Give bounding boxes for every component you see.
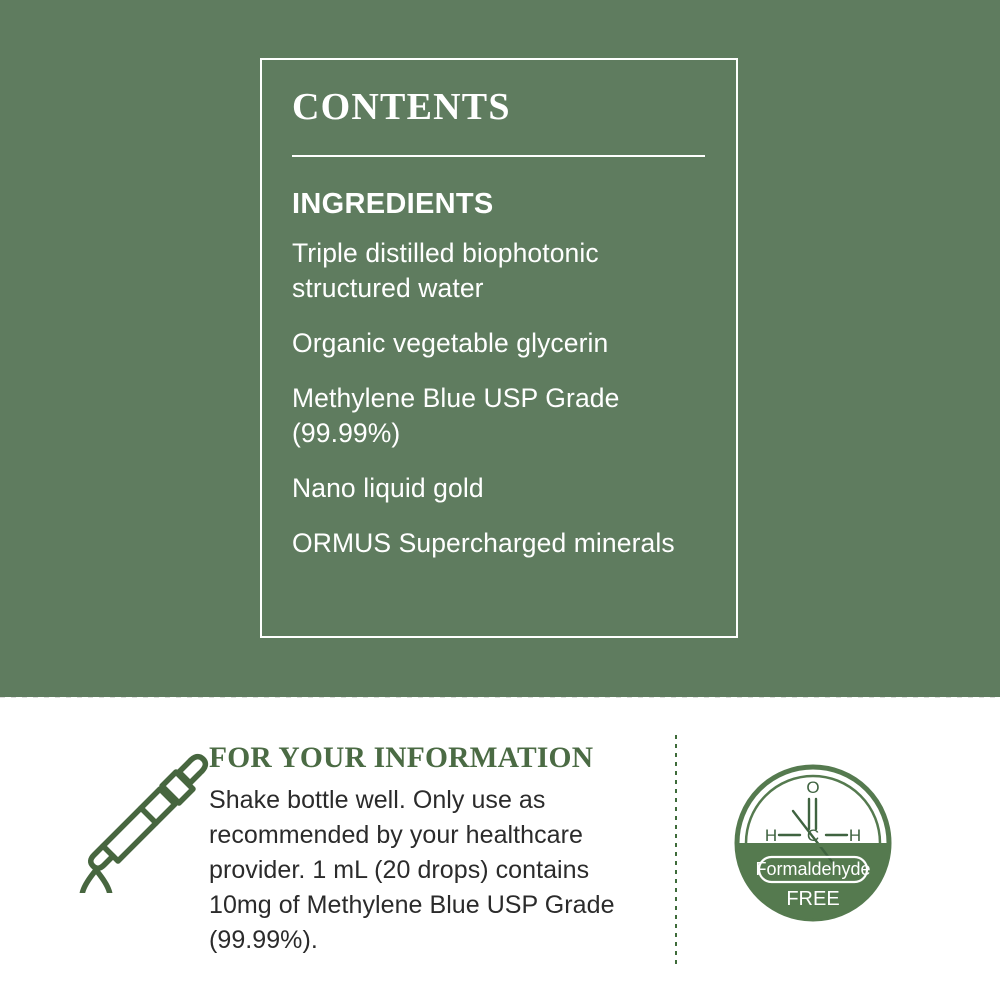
list-item: Nano liquid gold [292, 471, 702, 506]
dropper-icon [66, 748, 216, 893]
page-title: CONTENTS [292, 88, 511, 126]
molecule-atom-o: O [806, 778, 819, 797]
ingredients-list: Triple distilled biophotonic structured … [292, 236, 702, 581]
list-item: Organic vegetable glycerin [292, 326, 702, 361]
information-body-text: Shake bottle well. Only use as recommend… [209, 783, 649, 958]
title-divider [292, 155, 705, 157]
ingredients-heading: INGREDIENTS [292, 190, 494, 219]
list-item: ORMUS Supercharged minerals [292, 526, 702, 561]
molecule-atom-h-left: H [765, 826, 777, 845]
panel-dotted-divider [0, 697, 1000, 698]
molecule-atom-c: C [807, 826, 819, 845]
formaldehyde-free-badge: O C H H Formaldehyde FREE [733, 763, 893, 923]
list-item: Methylene Blue USP Grade (99.99%) [292, 381, 702, 451]
badge-label-bottom: FREE [786, 888, 839, 910]
contents-panel: CONTENTS INGREDIENTS Triple distilled bi… [0, 0, 1000, 697]
information-heading: FOR YOUR INFORMATION [209, 744, 593, 774]
molecule-atom-h-right: H [849, 826, 861, 845]
vertical-dotted-divider [675, 735, 677, 967]
list-item: Triple distilled biophotonic structured … [292, 236, 702, 306]
product-info-card: CONTENTS INGREDIENTS Triple distilled bi… [0, 0, 1000, 1000]
badge-label-top: Formaldehyde [755, 859, 870, 879]
